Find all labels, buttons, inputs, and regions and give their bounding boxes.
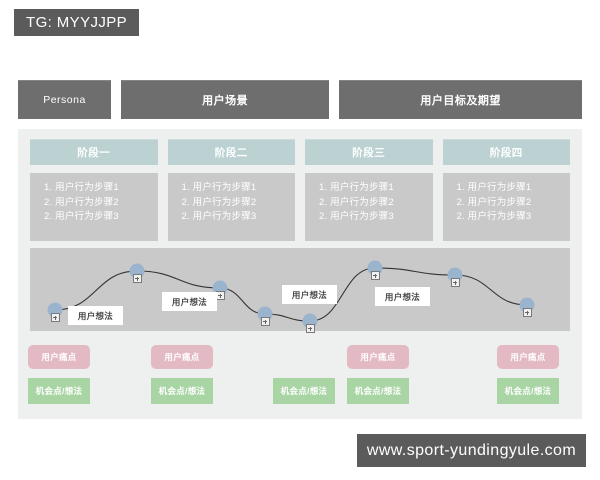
plus-icon[interactable] — [306, 324, 315, 333]
step-line: 2. 用户行为步骤3 — [44, 210, 158, 225]
step-line: 2. 用户行为步骤2 — [319, 196, 433, 211]
step-line: 2. 用户行为步骤3 — [182, 210, 296, 225]
opportunity-box[interactable]: 机会点/想法 — [497, 378, 559, 404]
stage-chip-1[interactable]: 阶段一 — [30, 139, 158, 165]
pain-point-box[interactable]: 用户痛点 — [347, 345, 409, 369]
step-line: 2. 用户行为步骤2 — [44, 196, 158, 211]
journey-panel: 阶段一 阶段二 阶段三 阶段四 1. 用户行为步骤1 2. 用户行为步骤2 2.… — [18, 129, 582, 419]
plus-icon[interactable] — [523, 308, 532, 317]
opportunity-box[interactable]: 机会点/想法 — [28, 378, 90, 404]
journey-map-canvas: TG: MYYJJPP Persona 用户场景 用户目标及期望 阶段一 阶段二… — [0, 0, 600, 480]
stage-chip-3[interactable]: 阶段三 — [305, 139, 433, 165]
watermark-top: TG: MYYJJPP — [14, 9, 139, 36]
plus-icon[interactable] — [261, 317, 270, 326]
steps-card-1[interactable]: 1. 用户行为步骤1 2. 用户行为步骤2 2. 用户行为步骤3 — [30, 173, 158, 241]
step-line: 1. 用户行为步骤1 — [44, 181, 158, 196]
stage-chip-2[interactable]: 阶段二 — [168, 139, 296, 165]
header-persona[interactable]: Persona — [18, 80, 111, 119]
step-line: 1. 用户行为步骤1 — [182, 181, 296, 196]
plus-icon[interactable] — [51, 313, 60, 322]
opportunity-box[interactable]: 机会点/想法 — [151, 378, 213, 404]
steps-card-3[interactable]: 1. 用户行为步骤1 2. 用户行为步骤2 2. 用户行为步骤3 — [305, 173, 433, 241]
steps-card-4[interactable]: 1. 用户行为步骤1 2. 用户行为步骤2 2. 用户行为步骤3 — [443, 173, 571, 241]
header-row: Persona 用户场景 用户目标及期望 — [18, 80, 582, 119]
steps-card-2[interactable]: 1. 用户行为步骤1 2. 用户行为步骤2 2. 用户行为步骤3 — [168, 173, 296, 241]
step-line: 2. 用户行为步骤2 — [182, 196, 296, 211]
pain-point-box[interactable]: 用户痛点 — [151, 345, 213, 369]
thought-box[interactable]: 用户想法 — [282, 285, 337, 304]
step-line: 2. 用户行为步骤3 — [319, 210, 433, 225]
plus-icon[interactable] — [371, 271, 380, 280]
opportunity-box[interactable]: 机会点/想法 — [347, 378, 409, 404]
thought-box[interactable]: 用户想法 — [375, 287, 430, 306]
stage-header-row: 阶段一 阶段二 阶段三 阶段四 — [30, 139, 570, 165]
thought-box[interactable]: 用户想法 — [162, 292, 217, 311]
step-line: 1. 用户行为步骤1 — [319, 181, 433, 196]
stage-chip-4[interactable]: 阶段四 — [443, 139, 571, 165]
header-user-goal[interactable]: 用户目标及期望 — [339, 80, 582, 119]
step-line: 2. 用户行为步骤3 — [457, 210, 571, 225]
emotion-curve-band: 用户想法用户想法用户想法用户想法 — [30, 248, 570, 331]
pain-point-box[interactable]: 用户痛点 — [497, 345, 559, 369]
step-line: 2. 用户行为步骤2 — [457, 196, 571, 211]
plus-icon[interactable] — [133, 274, 142, 283]
plus-icon[interactable] — [451, 278, 460, 287]
thought-box[interactable]: 用户想法 — [68, 306, 123, 325]
opportunity-box[interactable]: 机会点/想法 — [273, 378, 335, 404]
steps-row: 1. 用户行为步骤1 2. 用户行为步骤2 2. 用户行为步骤3 1. 用户行为… — [30, 173, 570, 241]
pain-point-box[interactable]: 用户痛点 — [28, 345, 90, 369]
step-line: 1. 用户行为步骤1 — [457, 181, 571, 196]
header-user-scene[interactable]: 用户场景 — [121, 80, 329, 119]
watermark-bottom: www.sport-yundingyule.com — [357, 434, 586, 467]
